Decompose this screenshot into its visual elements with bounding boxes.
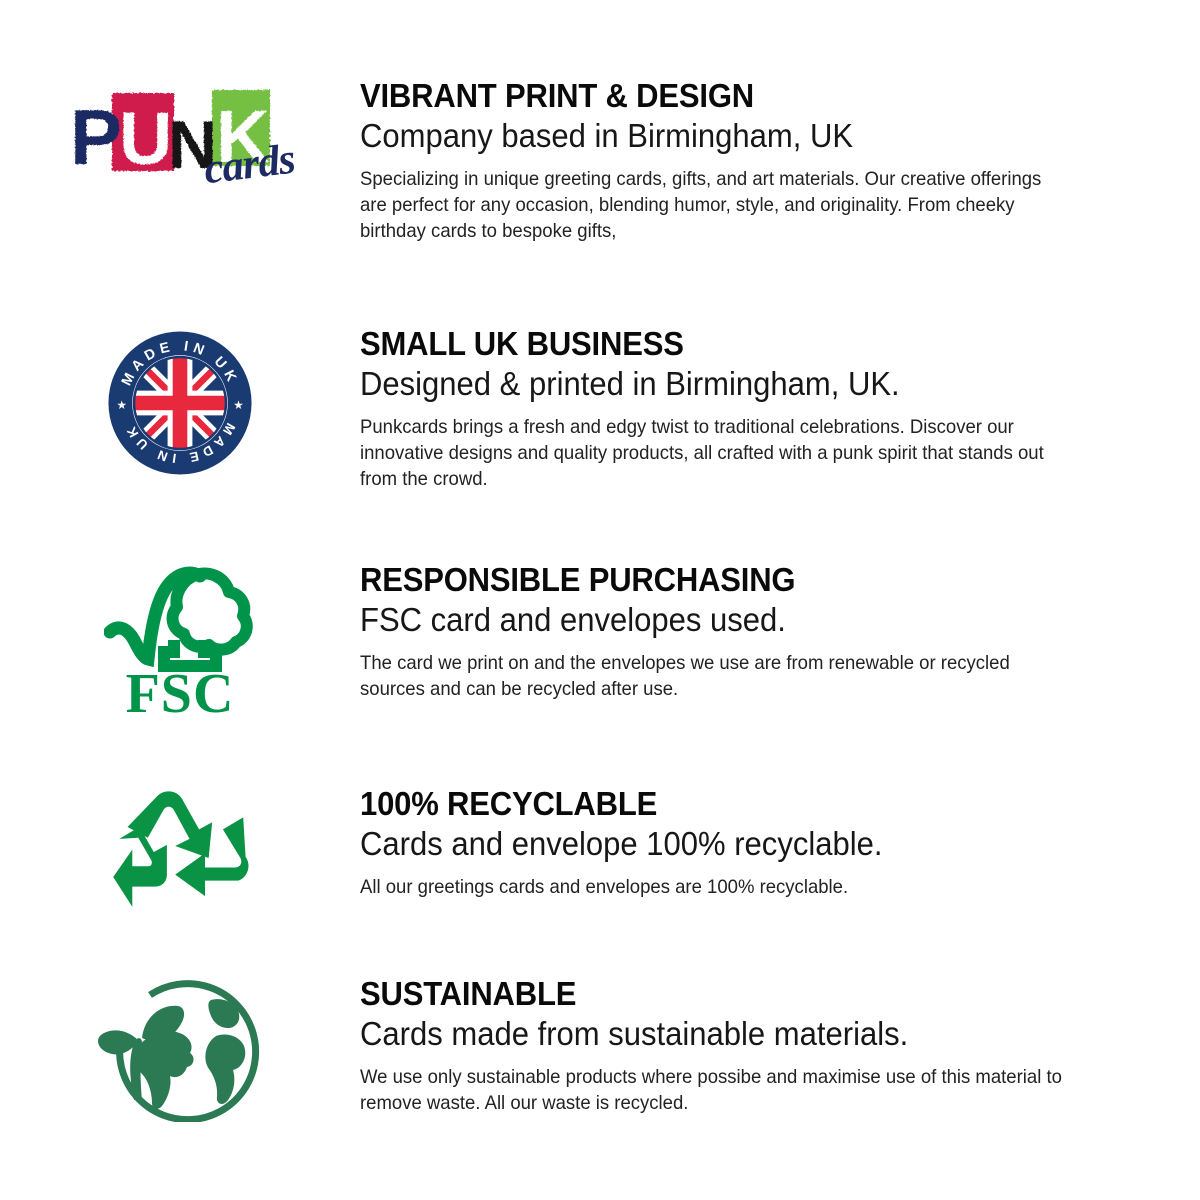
fsc-tree-svg bbox=[104, 566, 256, 676]
feature-row-vibrant-print-design: P U N K cards bbox=[0, 78, 1200, 245]
feature-body: We use only sustainable products where p… bbox=[360, 1064, 1068, 1117]
feature-subtitle: Company based in Birmingham, UK bbox=[360, 117, 1065, 156]
feature-row-small-uk-business: MADE IN UK MADE IN UK ★ ★ SMALL UK BUSIN… bbox=[0, 326, 1200, 493]
feature-body: All our greetings cards and envelopes ar… bbox=[360, 874, 1068, 900]
recycle-arrows-icon bbox=[105, 790, 255, 914]
feature-list-page: P U N K cards bbox=[0, 0, 1200, 1200]
punkcards-logo: P U N K cards bbox=[64, 82, 296, 192]
badge-star-left-icon: ★ bbox=[116, 398, 126, 412]
feature-body: Punkcards brings a fresh and edgy twist … bbox=[360, 414, 1068, 493]
feature-icon-cell bbox=[0, 976, 360, 1122]
feature-title: SUSTAINABLE bbox=[360, 976, 1065, 1012]
made-in-uk-badge-icon: MADE IN UK MADE IN UK ★ ★ bbox=[107, 330, 253, 476]
feature-icon-cell: P U N K cards bbox=[0, 78, 360, 192]
feature-subtitle: Designed & printed in Birmingham, UK. bbox=[360, 365, 1065, 404]
feature-subtitle: FSC card and envelopes used. bbox=[360, 601, 1065, 640]
fsc-tree-icon: FSC bbox=[104, 566, 256, 722]
globe-sprout-icon bbox=[90, 980, 270, 1122]
svg-text:P: P bbox=[70, 93, 122, 181]
feature-row-responsible-purchasing: FSC RESPONSIBLE PURCHASING FSC card and … bbox=[0, 562, 1200, 722]
feature-text-cell: VIBRANT PRINT & DESIGN Company based in … bbox=[360, 78, 1200, 245]
feature-title: 100% RECYCLABLE bbox=[360, 786, 1065, 822]
feature-text-cell: SMALL UK BUSINESS Designed & printed in … bbox=[360, 326, 1200, 493]
feature-title: RESPONSIBLE PURCHASING bbox=[360, 562, 1065, 598]
fsc-wordmark: FSC bbox=[104, 666, 256, 722]
feature-body: The card we print on and the envelopes w… bbox=[360, 650, 1068, 703]
feature-body: Specializing in unique greeting cards, g… bbox=[360, 166, 1068, 245]
feature-row-100-percent-recyclable: 100% RECYCLABLE Cards and envelope 100% … bbox=[0, 786, 1200, 914]
feature-icon-cell bbox=[0, 786, 360, 914]
feature-text-cell: SUSTAINABLE Cards made from sustainable … bbox=[360, 976, 1200, 1116]
made-in-uk-badge-svg: MADE IN UK MADE IN UK ★ ★ bbox=[107, 330, 253, 476]
svg-text:U: U bbox=[119, 97, 172, 180]
feature-subtitle: Cards and envelope 100% recyclable. bbox=[360, 825, 1065, 864]
feature-row-sustainable: SUSTAINABLE Cards made from sustainable … bbox=[0, 976, 1200, 1122]
feature-icon-cell: MADE IN UK MADE IN UK ★ ★ bbox=[0, 326, 360, 476]
feature-text-cell: 100% RECYCLABLE Cards and envelope 100% … bbox=[360, 786, 1200, 900]
badge-star-right-icon: ★ bbox=[233, 398, 243, 412]
feature-icon-cell: FSC bbox=[0, 562, 360, 722]
feature-text-cell: RESPONSIBLE PURCHASING FSC card and enve… bbox=[360, 562, 1200, 702]
feature-subtitle: Cards made from sustainable materials. bbox=[360, 1015, 1065, 1054]
feature-title: SMALL UK BUSINESS bbox=[360, 326, 1065, 362]
feature-title: VIBRANT PRINT & DESIGN bbox=[360, 78, 1065, 114]
